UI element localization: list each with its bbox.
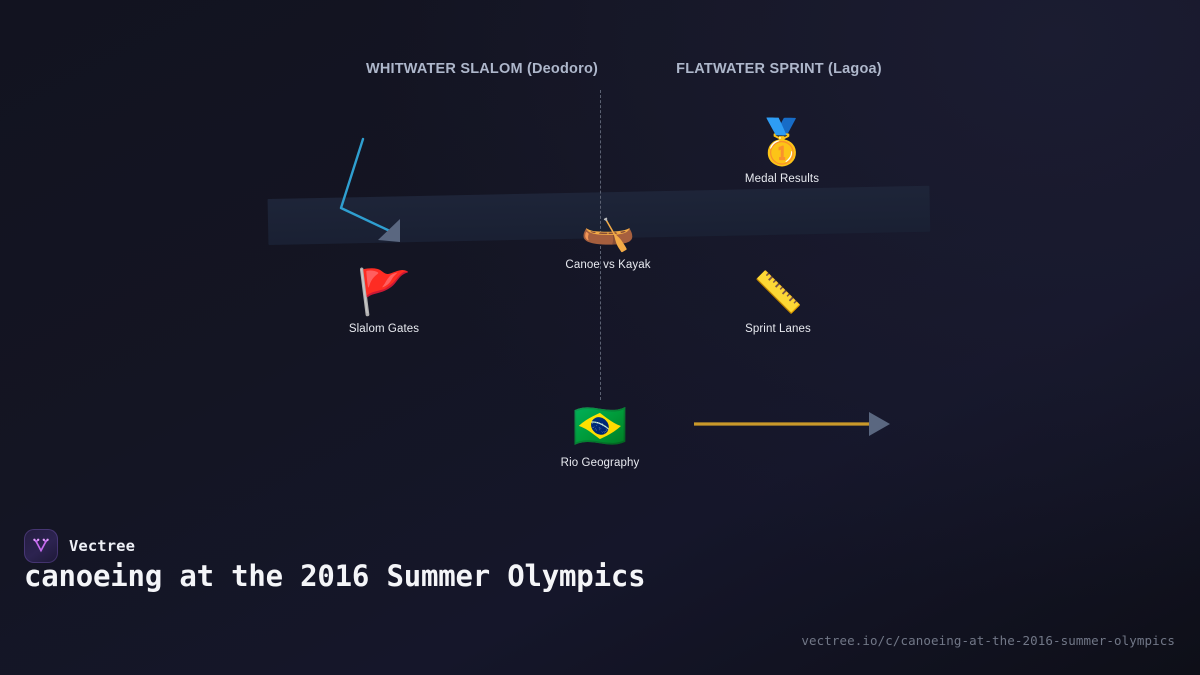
footer: Vectree canoeing at the 2016 Summer Olym… xyxy=(0,515,1200,675)
vectree-logo-icon xyxy=(24,529,58,563)
node-slalom-gates[interactable]: 🚩 Slalom Gates xyxy=(299,268,469,335)
slalom-course-arrowhead xyxy=(378,219,400,242)
brazil-flag-icon: 🇧🇷 xyxy=(515,402,685,452)
diagram-area: WHITWATER SLALOM (Deodoro) FLATWATER SPR… xyxy=(0,0,1200,520)
node-medal-results[interactable]: 🥇 Medal Results xyxy=(697,118,867,185)
canoe-icon: 🛶 xyxy=(523,204,693,254)
node-label: Medal Results xyxy=(697,173,867,185)
ruler-icon: 📏 xyxy=(693,268,863,318)
page-title: canoeing at the 2016 Summer Olympics xyxy=(24,560,724,593)
brand[interactable]: Vectree xyxy=(24,529,135,563)
node-sprint-lanes[interactable]: 📏 Sprint Lanes xyxy=(693,268,863,335)
footer-url: vectree.io/c/canoeing-at-the-2016-summer… xyxy=(801,633,1175,648)
column-header-slalom: WHITWATER SLALOM (Deodoro) xyxy=(366,61,598,77)
brand-name: Vectree xyxy=(69,537,135,555)
node-label: Slalom Gates xyxy=(299,323,469,335)
gold-medal-icon: 🥇 xyxy=(697,118,867,168)
node-label: Canoe vs Kayak xyxy=(523,259,693,271)
node-label: Sprint Lanes xyxy=(693,323,863,335)
node-label: Rio Geography xyxy=(515,457,685,469)
node-rio-geography[interactable]: 🇧🇷 Rio Geography xyxy=(515,402,685,469)
diagram-canvas: WHITWATER SLALOM (Deodoro) FLATWATER SPR… xyxy=(0,0,1200,675)
node-canoe-vs-kayak[interactable]: 🛶 Canoe vs Kayak xyxy=(523,204,693,271)
column-header-sprint: FLATWATER SPRINT (Lagoa) xyxy=(676,61,882,77)
slalom-course-path xyxy=(341,139,392,232)
sprint-lane-arrowhead xyxy=(869,412,890,436)
red-flag-icon: 🚩 xyxy=(299,268,469,318)
